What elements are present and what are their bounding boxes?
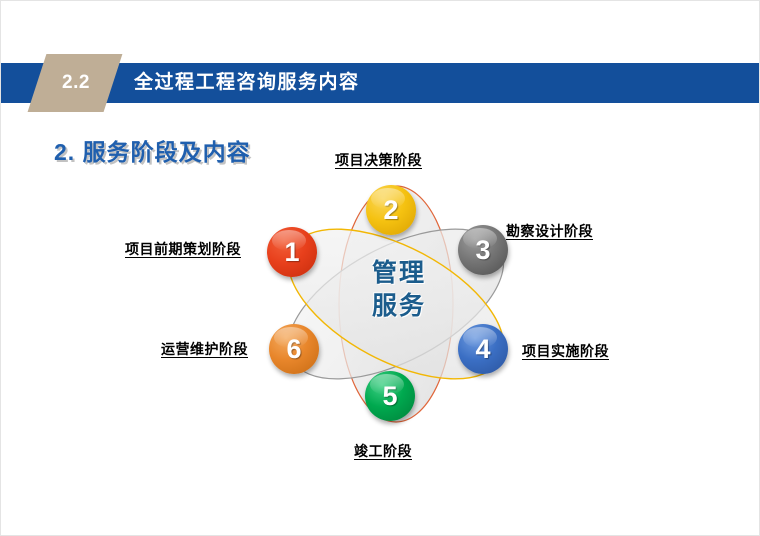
phase-node-4[interactable]: 4: [458, 324, 508, 374]
center-text-line2: 服务: [356, 290, 442, 323]
phase-label-2: 项目决策阶段: [335, 150, 422, 170]
header-title: 全过程工程咨询服务内容: [134, 71, 360, 95]
phase-node-6[interactable]: 6: [269, 324, 319, 374]
phase-node-2-number: 2: [383, 195, 398, 225]
phase-node-1-number: 1: [284, 237, 299, 267]
slide-canvas: 2.2 全过程工程咨询服务内容 2. 服务阶段及内容 管理 服务: [0, 0, 760, 536]
phase-node-1[interactable]: 1: [267, 227, 317, 277]
phase-label-6: 运营维护阶段: [161, 339, 248, 359]
center-text-line1: 管理: [356, 257, 442, 290]
phase-node-5[interactable]: 5: [365, 371, 415, 421]
phase-label-4: 项目实施阶段: [522, 341, 609, 361]
phase-node-2[interactable]: 2: [366, 185, 416, 235]
phase-node-5-number: 5: [382, 381, 397, 411]
phase-label-5: 竣工阶段: [354, 441, 412, 461]
section-heading: 2. 服务阶段及内容: [54, 133, 251, 167]
phase-node-4-number: 4: [475, 334, 490, 364]
section-number-label: 2.2: [39, 71, 113, 95]
phase-label-1: 项目前期策划阶段: [125, 239, 241, 259]
diagram-center-text: 管理 服务: [356, 257, 442, 323]
phase-node-3-number: 3: [475, 235, 490, 265]
phase-diagram: 管理 服务 1 2 3 4 5 6: [251, 169, 541, 439]
phase-node-3[interactable]: 3: [458, 225, 508, 275]
phase-node-6-number: 6: [286, 334, 301, 364]
phase-label-3: 勘察设计阶段: [506, 221, 593, 241]
